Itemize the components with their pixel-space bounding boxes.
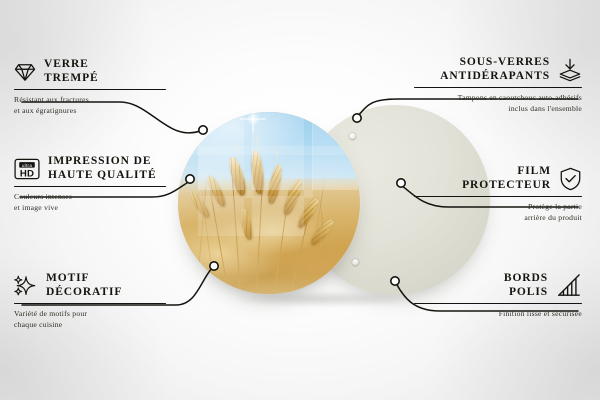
feature-title: BORDS POLIS: [504, 272, 548, 299]
feature-desc-line1: Couleurs intenses: [14, 192, 166, 202]
sparkles-icon: [14, 275, 38, 297]
feature-sous-verres-antiderapants[interactable]: SOUS-VERRES ANTIDÉRAPANTS Tampons en cao…: [414, 56, 582, 114]
title-rule: [414, 87, 582, 88]
feature-header: ultra HD IMPRESSION DE HAUTE QUALITÉ: [14, 155, 166, 182]
feature-desc-line1: Variété de motifs pour: [14, 309, 166, 319]
feature-desc-line2: et image vive: [14, 203, 166, 213]
feature-header: VERRE TREMPÉ: [14, 58, 166, 85]
feature-desc-line2: inclus dans l'ensemble: [414, 104, 582, 114]
title-rule: [414, 303, 582, 304]
feature-title: FILM PROTECTEUR: [462, 165, 551, 192]
feature-verre-trempe[interactable]: VERRE TREMPÉ Résistant aux fractures et …: [14, 58, 166, 116]
polished-edge-icon: [556, 274, 582, 298]
feature-desc-line2: chaque cuisine: [14, 320, 166, 330]
svg-text:ultra: ultra: [22, 162, 32, 167]
title-rule: [14, 89, 166, 90]
title-rule: [14, 303, 166, 304]
wheat-field-image: [178, 112, 360, 294]
feature-bords-polis[interactable]: BORDS POLIS Finition lisse et sécurisée: [414, 272, 582, 320]
product-front-disc: [178, 112, 360, 294]
feature-header: MOTIF DÉCORATIF: [14, 272, 166, 299]
feature-header: FILM PROTECTEUR: [414, 165, 582, 192]
feature-desc-line1: Protège la partie: [414, 202, 582, 212]
feature-desc-line1: Tampons en caoutchouc auto-adhésifs: [414, 93, 582, 103]
title-rule: [14, 186, 166, 187]
feature-header: BORDS POLIS: [414, 272, 582, 299]
feature-desc-line1: Finition lisse et sécurisée: [414, 309, 582, 319]
feature-title: IMPRESSION DE HAUTE QUALITÉ: [48, 155, 157, 182]
glass-sparkle-icon: [240, 112, 266, 132]
ultra-hd-icon: ultra HD: [14, 158, 40, 180]
diamond-icon: [14, 62, 36, 82]
svg-text:HD: HD: [20, 168, 34, 179]
feature-desc-line2: arrière du produit: [414, 213, 582, 223]
shield-check-icon: [559, 167, 582, 191]
feature-motif-decoratif[interactable]: MOTIF DÉCORATIF Variété de motifs pour c…: [14, 272, 166, 330]
title-rule: [414, 196, 582, 197]
feature-desc-line1: Résistant aux fractures: [14, 95, 166, 105]
feature-header: SOUS-VERRES ANTIDÉRAPANTS: [414, 56, 582, 83]
feature-title: MOTIF DÉCORATIF: [46, 272, 122, 299]
non-slip-pad-icon: [558, 58, 582, 82]
feature-title: VERRE TREMPÉ: [44, 58, 99, 85]
glass-sheen: [178, 112, 360, 294]
feature-desc-line2: et aux égratignures: [14, 106, 166, 116]
feature-title: SOUS-VERRES ANTIDÉRAPANTS: [440, 56, 550, 83]
feature-impression-haute-qualite[interactable]: ultra HD IMPRESSION DE HAUTE QUALITÉ Cou…: [14, 155, 166, 213]
feature-film-protecteur[interactable]: FILM PROTECTEUR Protège la partie arrièr…: [414, 165, 582, 223]
infographic-canvas: VERRE TREMPÉ Résistant aux fractures et …: [0, 0, 600, 400]
